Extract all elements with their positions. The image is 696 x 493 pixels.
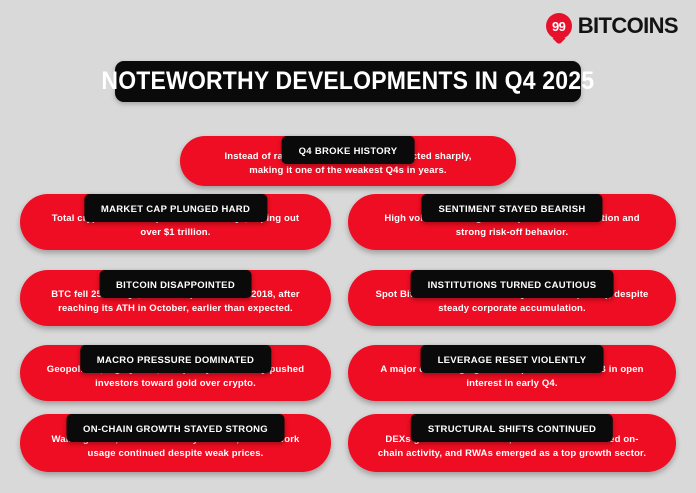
card-header-text: ON-CHAIN GROWTH STAYED STRONG xyxy=(83,424,268,435)
card-header-text: MARKET CAP PLUNGED HARD xyxy=(101,204,250,215)
ninety-nine-pin-icon: 99 xyxy=(546,13,572,39)
page-title-banner: NOTEWORTHY DEVELOPMENTS IN Q4 2025 xyxy=(115,61,581,102)
card-bitcoin-disappointed: BTC fell 25% in Q4, its worst quarter si… xyxy=(20,270,331,326)
brand-logo: 99 BITCOINS xyxy=(546,13,678,39)
card-institutions-turned-cautious: Spot Bitcoin ETFs saw record Q4 outflows… xyxy=(348,270,676,326)
card-market-cap-plunged-hard: Total crypto market cap fell 25–27% in Q… xyxy=(20,194,331,250)
card-header-text: STRUCTURAL SHIFTS CONTINUED xyxy=(428,424,596,435)
brand-wordmark: BITCOINS xyxy=(578,15,678,37)
page-title: NOTEWORTHY DEVELOPMENTS IN Q4 2025 xyxy=(102,69,595,94)
card-header-pill: ON-CHAIN GROWTH STAYED STRONG xyxy=(66,414,285,442)
card-header-pill: INSTITUTIONS TURNED CAUTIOUS xyxy=(411,270,614,298)
card-header-pill: STRUCTURAL SHIFTS CONTINUED xyxy=(411,414,613,442)
card-sentiment-stayed-bearish: High volumes during the drop showed dist… xyxy=(348,194,676,250)
card-header-text: BITCOIN DISAPPOINTED xyxy=(116,280,235,291)
card-header-text: MACRO PRESSURE DOMINATED xyxy=(97,355,254,366)
card-header-pill: LEVERAGE RESET VIOLENTLY xyxy=(421,345,604,373)
card-macro-pressure-dominated: Geopolitics, high yields, and policy unc… xyxy=(20,345,331,401)
card-header-text: LEVERAGE RESET VIOLENTLY xyxy=(438,355,587,366)
card-header-pill: MACRO PRESSURE DOMINATED xyxy=(80,345,271,373)
brand-mark-digits: 99 xyxy=(546,13,572,39)
card-header-pill: Q4 BROKE HISTORY xyxy=(282,136,415,164)
card-header-pill: SENTIMENT STAYED BEARISH xyxy=(421,194,602,222)
card-header-text: Q4 BROKE HISTORY xyxy=(299,146,398,157)
card-leverage-reset-violently: A major deleveraging event wiped out ove… xyxy=(348,345,676,401)
card-on-chain-growth-stayed-strong: Wallet growth, accumulation by holders, … xyxy=(20,414,331,472)
card-q4-broke-history: Instead of rallying, crypto markets corr… xyxy=(180,136,516,186)
card-header-pill: MARKET CAP PLUNGED HARD xyxy=(84,194,267,222)
card-structural-shifts-continued: DEXs gained market share, stablecoins do… xyxy=(348,414,676,472)
card-header-pill: BITCOIN DISAPPOINTED xyxy=(99,270,252,298)
card-header-text: SENTIMENT STAYED BEARISH xyxy=(438,204,585,215)
card-header-text: INSTITUTIONS TURNED CAUTIOUS xyxy=(428,280,597,291)
